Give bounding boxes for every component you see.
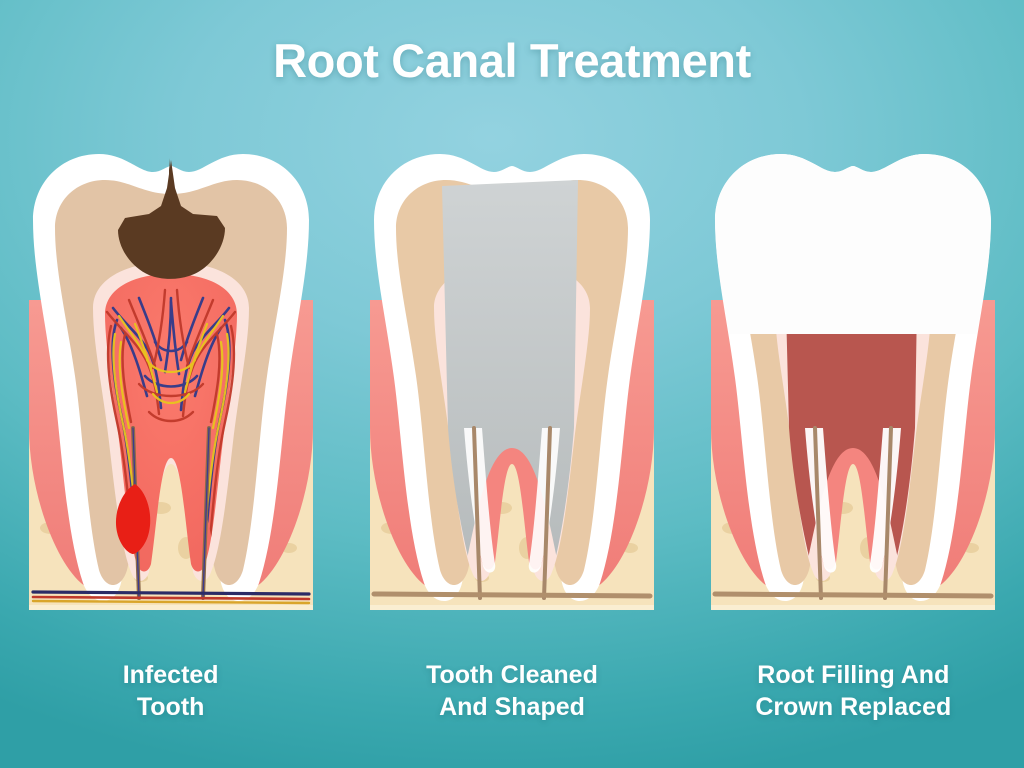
tooth-diagram-row bbox=[0, 128, 1024, 648]
tooth-diagram-infected bbox=[21, 128, 321, 628]
page-title: Root Canal Treatment bbox=[0, 33, 1024, 88]
crown-restoration bbox=[715, 148, 991, 334]
caption-line-1: Root Filling And bbox=[757, 661, 949, 689]
mandibular-nerve-bundle bbox=[715, 594, 991, 596]
infographic-stage: Root Canal Treatment bbox=[0, 0, 1024, 768]
caption-root-filling: Root Filling And Crown Replaced bbox=[703, 660, 1003, 723]
caption-infected-tooth: Infected Tooth bbox=[21, 660, 321, 723]
caption-tooth-cleaned: Tooth Cleaned And Shaped bbox=[362, 660, 662, 723]
caption-line-1: Tooth Cleaned bbox=[426, 661, 598, 689]
caption-line-1: Infected bbox=[123, 661, 219, 689]
tooth-diagram-cleaned bbox=[362, 128, 662, 628]
caption-line-2: Tooth bbox=[21, 692, 321, 724]
caption-line-2: And Shaped bbox=[362, 692, 662, 724]
caption-row: Infected Tooth Tooth Cleaned And Shaped … bbox=[0, 660, 1024, 740]
tooth-diagram-filled bbox=[703, 128, 1003, 628]
caption-line-2: Crown Replaced bbox=[703, 692, 1003, 724]
mandibular-nerve-bundle bbox=[374, 594, 650, 596]
